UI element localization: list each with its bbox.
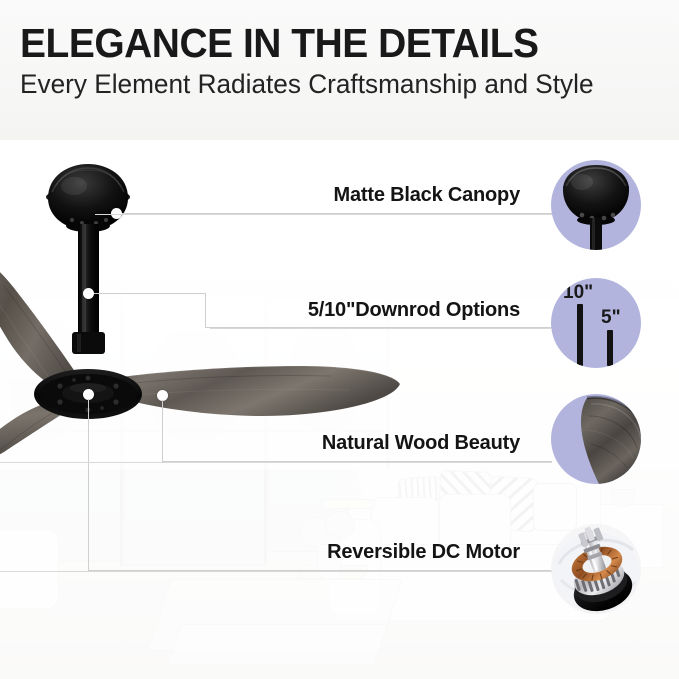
callout-label-motor: Reversible DC Motor xyxy=(300,541,520,564)
callout-label-wood: Natural Wood Beauty xyxy=(295,432,520,455)
downrod-label-five: 5" xyxy=(601,307,621,329)
wood-leader-v xyxy=(162,400,163,462)
downrod-label-ten: 10" xyxy=(563,282,593,304)
dc-motor-thumbnail xyxy=(551,524,641,614)
header-band: ELEGANCE IN THE DETAILS Every Element Ra… xyxy=(0,0,679,140)
wood-blade-thumbnail xyxy=(551,394,641,484)
page-title: ELEGANCE IN THE DETAILS xyxy=(20,20,539,66)
motor-label-rule xyxy=(0,571,552,572)
motor-leader-v xyxy=(88,399,89,571)
canopy-label-rule xyxy=(95,214,552,215)
wood-label-rule xyxy=(0,462,552,463)
downrod-anchor-dot xyxy=(83,288,94,299)
downrod-bar-five xyxy=(607,330,613,366)
downrod-leader-v xyxy=(205,293,206,328)
infographic-canvas: ELEGANCE IN THE DETAILS Every Element Ra… xyxy=(0,0,679,679)
downrod-leader-h1 xyxy=(94,293,206,294)
callout-label-canopy: Matte Black Canopy xyxy=(300,184,520,207)
canopy-thumbnail xyxy=(551,160,641,250)
callout-label-downrod: 5/10"Downrod Options xyxy=(280,299,520,322)
downrod-thumbnail: 10" 5" xyxy=(551,278,641,368)
downrod-label-rule xyxy=(210,328,552,329)
downrod-bar-ten xyxy=(577,304,583,366)
page-subtitle: Every Element Radiates Craftsmanship and… xyxy=(20,68,594,100)
